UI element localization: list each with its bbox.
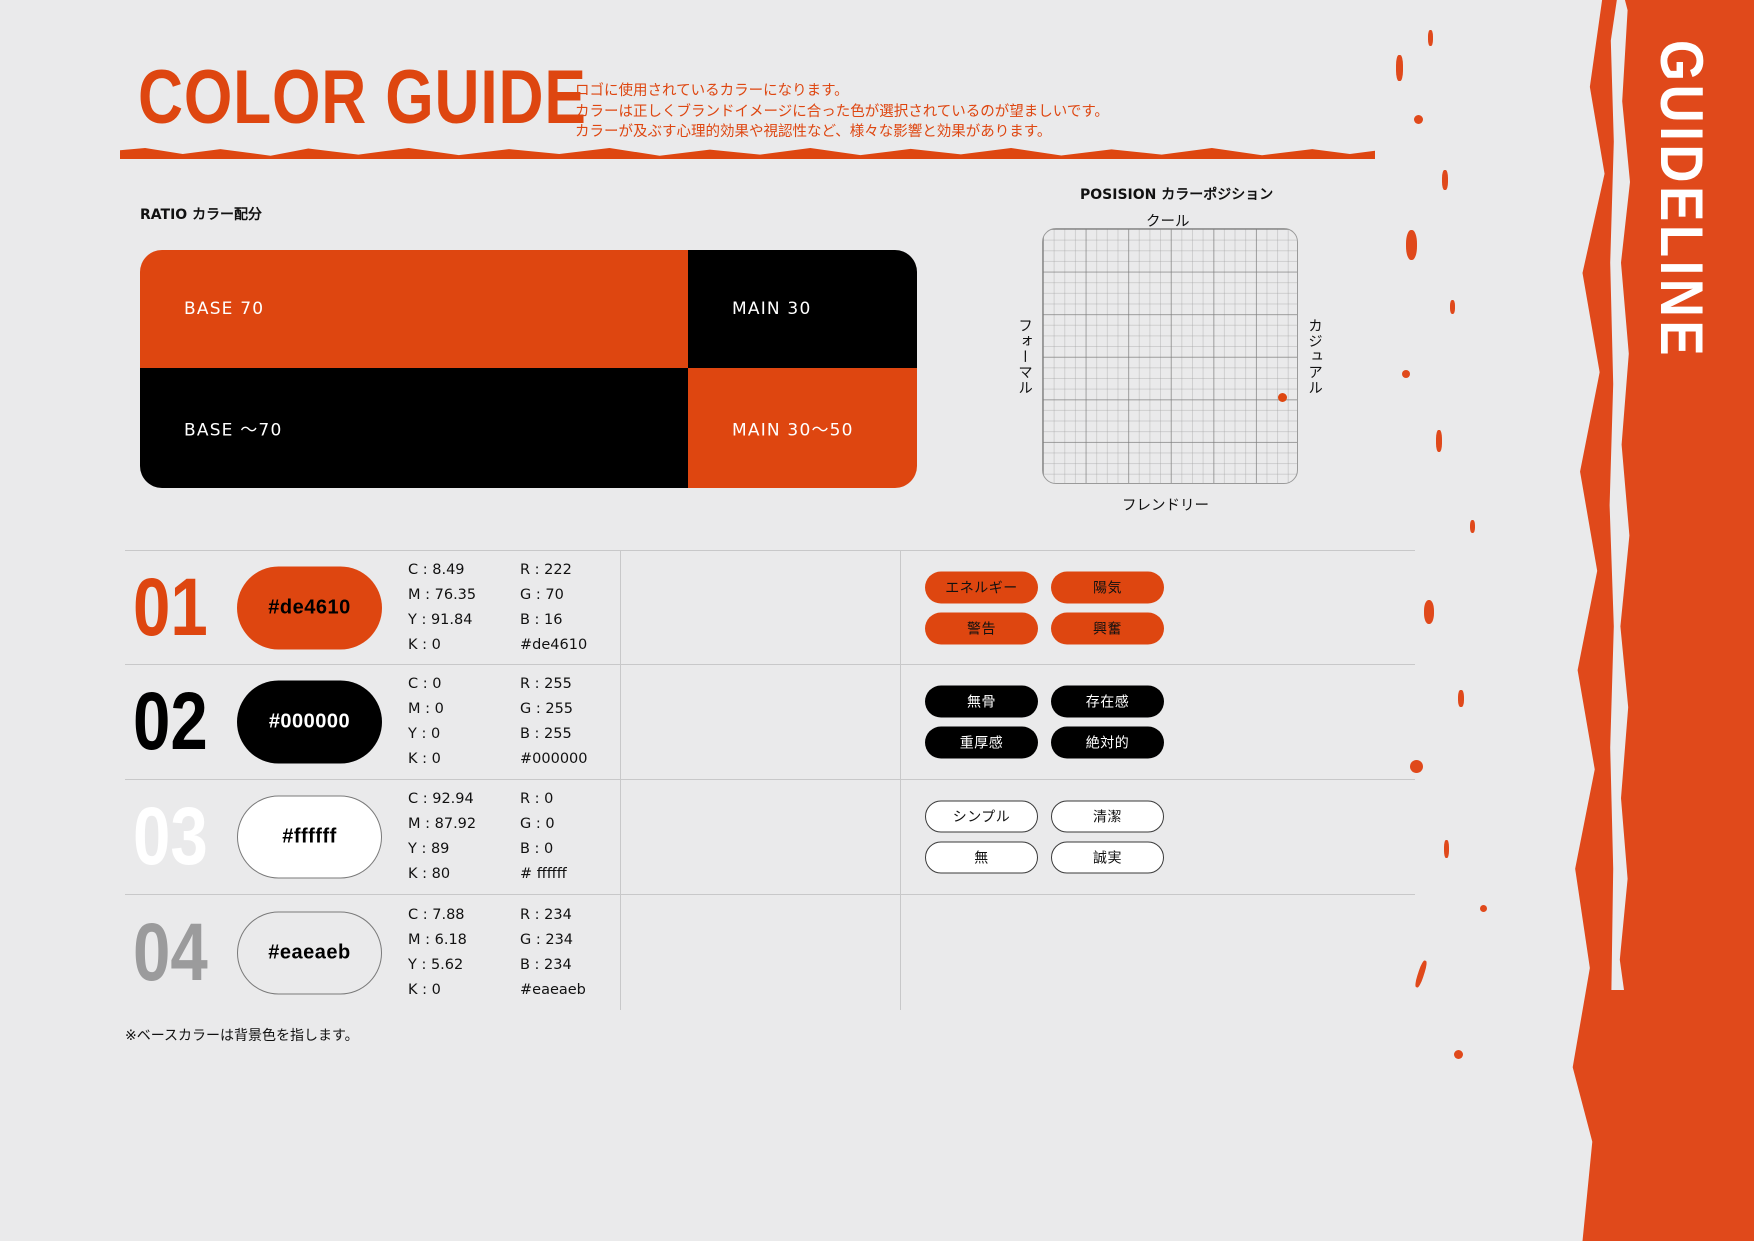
ratio-block-label: MAIN 30 [732, 299, 811, 319]
color-table: 01 #de4610 C : 8.49 M : 76.35 Y : 91.84 … [125, 550, 1415, 1010]
keyword-tag: 興奮 [1051, 612, 1164, 644]
cmyk-c: C : 7.88 [408, 903, 467, 928]
cmyk-k: K : 80 [408, 862, 476, 887]
cmyk-values: C : 7.88 M : 6.18 Y : 5.62 K : 0 [408, 903, 467, 1003]
subtitle-line-3: カラーが及ぶす心理的効果や視認性など、様々な影響と効果があります。 [575, 122, 1109, 143]
cmyk-y: Y : 89 [408, 837, 476, 862]
header-brush-rule [120, 148, 1375, 159]
cmyk-m: M : 6.18 [408, 928, 467, 953]
row-number: 01 [133, 567, 208, 649]
subtitle-line-1: ロゴに使用されているカラーになります。 [575, 81, 1109, 102]
rgb-r: R : 222 [520, 558, 587, 583]
page-header: COLOR GUIDE ロゴに使用されているカラーになります。 カラーは正しくブ… [0, 0, 1390, 165]
rgb-b: B : 16 [520, 608, 587, 633]
column-divider [900, 780, 901, 894]
axis-label-formal: フォーマル [1014, 318, 1035, 396]
color-row-03: 03 #ffffff C : 92.94 M : 87.92 Y : 89 K … [125, 780, 1415, 895]
ratio-block-base-70: BASE 70 [140, 250, 688, 368]
header-subtitle: ロゴに使用されているカラーになります。 カラーは正しくブランドイメージに合った色… [575, 81, 1109, 143]
paint-speck [1442, 170, 1448, 190]
keyword-tag: 警告 [925, 612, 1038, 644]
keyword-tag: 絶対的 [1051, 727, 1164, 759]
cmyk-values: C : 8.49 M : 76.35 Y : 91.84 K : 0 [408, 558, 476, 658]
cmyk-m: M : 76.35 [408, 583, 476, 608]
keyword-tag: 陽気 [1051, 571, 1164, 603]
keyword-tag: エネルギー [925, 571, 1038, 603]
keyword-tag: 誠実 [1051, 842, 1164, 874]
color-row-02: 02 #000000 C : 0 M : 0 Y : 0 K : 0 R : 2… [125, 665, 1415, 780]
ratio-block-main-30-50: MAIN 30〜50 [688, 368, 917, 488]
ratio-row-bottom: BASE 〜70 MAIN 30〜50 [140, 368, 917, 488]
keyword-tag-group: エネルギー 陽気 警告 興奮 [925, 571, 1245, 644]
keyword-tag: 清潔 [1051, 801, 1164, 833]
keyword-tag: 無骨 [925, 686, 1038, 718]
cmyk-y: Y : 5.62 [408, 953, 467, 978]
cmyk-k: K : 0 [408, 747, 444, 772]
rgb-b: B : 255 [520, 722, 588, 747]
rgb-g: G : 70 [520, 583, 587, 608]
hex-code: # ffffff [520, 862, 567, 887]
column-divider [900, 895, 901, 1010]
ratio-block-base-under-70: BASE 〜70 [140, 368, 688, 488]
guideline-vertical-word: GUIDELINE [1647, 40, 1716, 359]
page-title: COLOR GUIDE [138, 60, 587, 136]
cmyk-y: Y : 91.84 [408, 608, 476, 633]
keyword-tag: シンプル [925, 801, 1038, 833]
color-swatch: #000000 [237, 681, 382, 764]
axis-label-friendly: フレンドリー [1122, 494, 1209, 515]
color-row-01: 01 #de4610 C : 8.49 M : 76.35 Y : 91.84 … [125, 550, 1415, 665]
color-swatch: #eaeaeb [237, 911, 382, 994]
paint-speck [1428, 30, 1433, 46]
ratio-block-label: MAIN 30〜50 [732, 416, 854, 441]
column-divider [620, 895, 621, 1010]
rgb-r: R : 234 [520, 903, 586, 928]
color-swatch: #de4610 [237, 566, 382, 649]
position-grid [1042, 228, 1298, 484]
column-divider [620, 665, 621, 779]
rgb-values: R : 0 G : 0 B : 0 # ffffff [520, 787, 567, 887]
keyword-tag: 重厚感 [925, 727, 1038, 759]
rgb-g: G : 234 [520, 928, 586, 953]
rgb-values: R : 255 G : 255 B : 255 #000000 [520, 672, 588, 772]
rgb-g: G : 255 [520, 697, 588, 722]
footnote: ※ベースカラーは背景色を指します。 [125, 1025, 359, 1045]
paint-speck [1444, 840, 1449, 858]
rgb-values: R : 234 G : 234 B : 234 #eaeaeb [520, 903, 586, 1003]
cmyk-c: C : 8.49 [408, 558, 476, 583]
color-row-04: 04 #eaeaeb C : 7.88 M : 6.18 Y : 5.62 K … [125, 895, 1415, 1010]
hex-code: #de4610 [520, 633, 587, 658]
cmyk-values: C : 92.94 M : 87.92 Y : 89 K : 80 [408, 787, 476, 887]
decorative-paint-splash: GUIDELINE [1384, 0, 1754, 1241]
cmyk-y: Y : 0 [408, 722, 444, 747]
hex-code: #000000 [520, 747, 588, 772]
paint-speck [1406, 230, 1417, 260]
paint-speck [1414, 960, 1428, 988]
row-number: 02 [133, 681, 208, 763]
paint-speck [1480, 905, 1487, 912]
rgb-values: R : 222 G : 70 B : 16 #de4610 [520, 558, 587, 658]
keyword-tag-group: 無骨 存在感 重厚感 絶対的 [925, 686, 1245, 759]
position-marker-dot [1278, 393, 1287, 402]
rgb-b: B : 0 [520, 837, 567, 862]
color-swatch: #ffffff [237, 796, 382, 879]
keyword-tag: 無 [925, 842, 1038, 874]
paint-speck [1458, 690, 1464, 707]
paint-speck [1470, 520, 1475, 533]
paint-speck [1450, 300, 1455, 314]
paint-speck [1454, 1050, 1463, 1059]
cmyk-k: K : 0 [408, 633, 476, 658]
subtitle-line-2: カラーは正しくブランドイメージに合った色が選択されているのが望ましいです。 [575, 102, 1109, 123]
row-number: 04 [133, 912, 208, 994]
ratio-section-label: RATIO カラー配分 [140, 204, 262, 224]
paint-band [1509, 0, 1754, 1241]
cmyk-c: C : 0 [408, 672, 444, 697]
column-divider [620, 780, 621, 894]
color-position-chart [1042, 228, 1298, 484]
paint-speck [1396, 55, 1403, 81]
cmyk-k: K : 0 [408, 978, 467, 1003]
ratio-block-main-30: MAIN 30 [688, 250, 917, 368]
paint-speck [1424, 600, 1434, 624]
position-section-label: POSISION カラーポジション [1080, 184, 1273, 204]
paint-speck [1436, 430, 1442, 452]
hex-code: #eaeaeb [520, 978, 586, 1003]
paint-band-gap [1606, 0, 1636, 990]
row-number: 03 [133, 796, 208, 878]
rgb-g: G : 0 [520, 812, 567, 837]
axis-label-cool: クール [1146, 210, 1190, 231]
keyword-tag-group: シンプル 清潔 無 誠実 [925, 801, 1245, 874]
rgb-b: B : 234 [520, 953, 586, 978]
column-divider [900, 665, 901, 779]
cmyk-m: M : 87.92 [408, 812, 476, 837]
column-divider [900, 551, 901, 664]
rgb-r: R : 0 [520, 787, 567, 812]
paint-speck [1402, 370, 1410, 378]
paint-speck [1414, 115, 1423, 124]
axis-label-casual: カジュアル [1304, 318, 1325, 396]
column-divider [620, 551, 621, 664]
keyword-tag: 存在感 [1051, 686, 1164, 718]
ratio-block-label: BASE 70 [184, 299, 264, 319]
ratio-block-label: BASE 〜70 [184, 416, 282, 441]
rgb-r: R : 255 [520, 672, 588, 697]
ratio-diagram: BASE 70 MAIN 30 BASE 〜70 MAIN 30〜50 [140, 250, 917, 488]
cmyk-m: M : 0 [408, 697, 444, 722]
cmyk-values: C : 0 M : 0 Y : 0 K : 0 [408, 672, 444, 772]
ratio-row-top: BASE 70 MAIN 30 [140, 250, 917, 368]
cmyk-c: C : 92.94 [408, 787, 476, 812]
